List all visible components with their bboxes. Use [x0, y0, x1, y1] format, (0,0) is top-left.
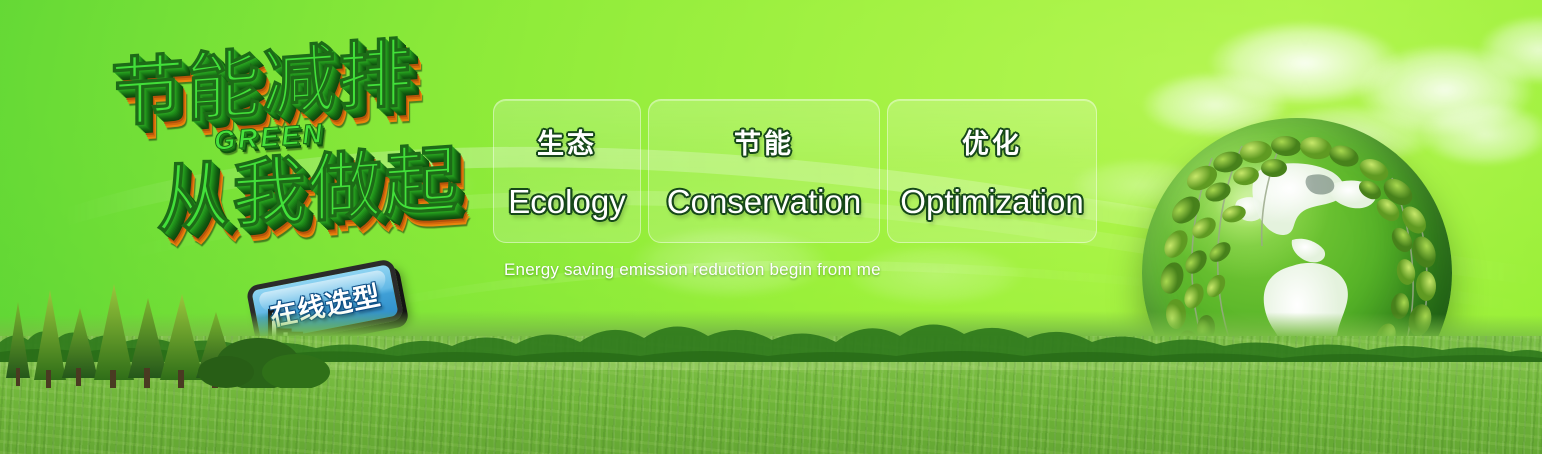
- feature-card-cn-label: 生态: [537, 122, 597, 161]
- hero-title-line1: 节能减排: [110, 33, 413, 134]
- conifer-tree-cluster: [0, 268, 360, 388]
- feature-card-conservation[interactable]: 节能 Conservation: [648, 99, 880, 243]
- feature-card-cn-label: 优化: [962, 122, 1022, 161]
- feature-card-cn-label: 节能: [734, 122, 794, 161]
- feature-card-optimization[interactable]: 优化 Optimization: [887, 99, 1097, 243]
- hero-title-artwork: 节能减排 GREEN 从我做起: [96, 38, 496, 273]
- feature-card-list: 生态 Ecology 节能 Conservation 优化 Optimizati…: [493, 99, 1097, 243]
- feature-card-en-label: Optimization: [900, 183, 1083, 221]
- feature-card-ecology[interactable]: 生态 Ecology: [493, 99, 641, 243]
- hero-title-line2: 从我做起: [156, 139, 459, 240]
- feature-card-en-label: Ecology: [508, 183, 625, 221]
- eco-promo-banner: 节能减排 GREEN 从我做起 在线选型 生态 Ecology 节能 Conse…: [0, 0, 1542, 454]
- banner-tagline: Energy saving emission reduction begin f…: [504, 260, 881, 280]
- feature-card-en-label: Conservation: [667, 183, 861, 221]
- cloud-icon: [1180, 8, 1430, 118]
- cloud-icon: [1460, 5, 1542, 95]
